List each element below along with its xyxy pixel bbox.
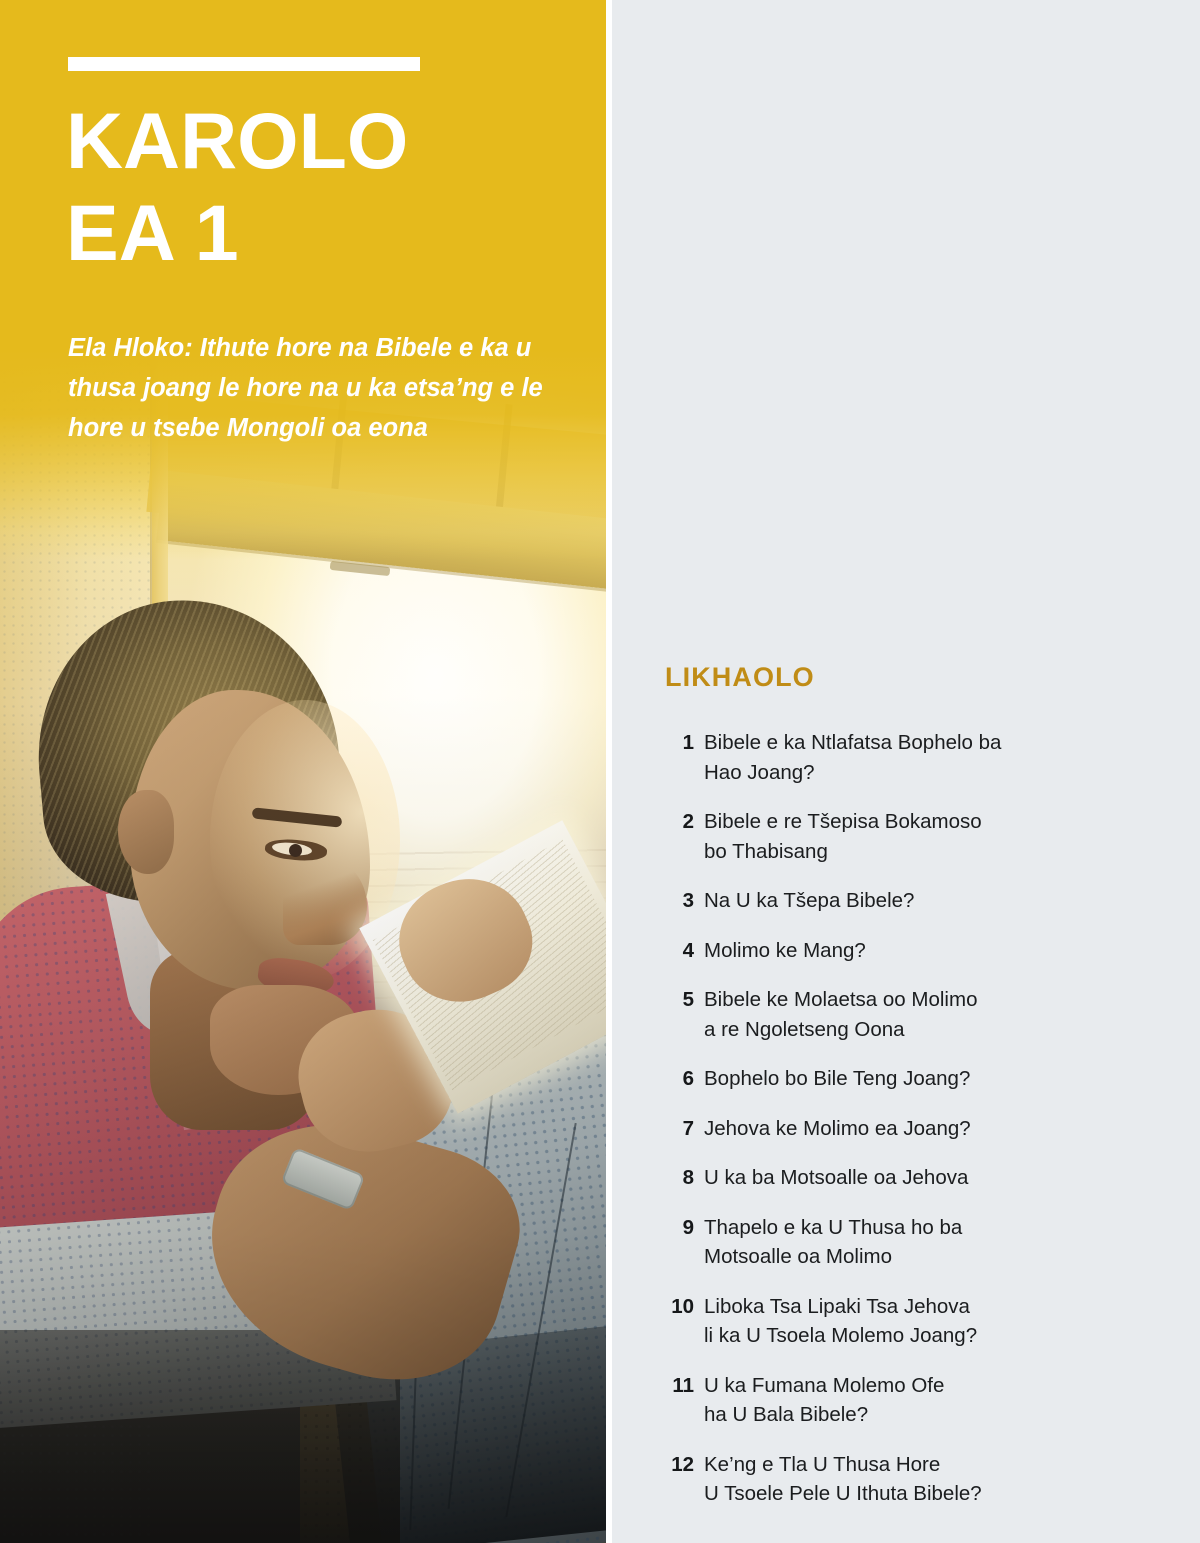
toc-chapter-number: 1: [612, 728, 704, 758]
toc-chapter-number: 10: [612, 1292, 704, 1322]
toc-row[interactable]: 10Liboka Tsa Lipaki Tsa Jehova li ka U T…: [612, 1292, 1200, 1351]
toc-chapter-number: 4: [612, 936, 704, 966]
table-of-contents: 1Bibele e ka Ntlafatsa Bophelo ba Hao Jo…: [612, 728, 1200, 1529]
toc-chapter-number: 7: [612, 1114, 704, 1144]
page-title: KAROLO EA 1: [66, 95, 546, 280]
toc-chapter-title[interactable]: Ke’ng e Tla U Thusa Hore U Tsoele Pele U…: [704, 1450, 1200, 1509]
title-rule: [68, 57, 420, 71]
toc-chapter-number: 6: [612, 1064, 704, 1094]
toc-chapter-title[interactable]: U ka ba Motsoalle oa Jehova: [704, 1163, 1200, 1193]
chapter-cover-panel: KAROLO EA 1 Ela Hloko: Ithute hore na Bi…: [0, 0, 606, 1543]
toc-chapter-title[interactable]: Jehova ke Molimo ea Joang?: [704, 1114, 1200, 1144]
toc-chapter-number: 12: [612, 1450, 704, 1480]
toc-chapter-number: 2: [612, 807, 704, 837]
toc-row[interactable]: 3Na U ka Tšepa Bibele?: [612, 886, 1200, 916]
toc-chapter-title[interactable]: Molimo ke Mang?: [704, 936, 1200, 966]
toc-row[interactable]: 7Jehova ke Molimo ea Joang?: [612, 1114, 1200, 1144]
toc-chapter-number: 8: [612, 1163, 704, 1193]
ear: [118, 790, 174, 874]
toc-chapter-number: 3: [612, 886, 704, 916]
toc-chapter-number: 9: [612, 1213, 704, 1243]
toc-row[interactable]: 5Bibele ke Molaetsa oo Molimo a re Ngole…: [612, 985, 1200, 1044]
toc-chapter-title[interactable]: Na U ka Tšepa Bibele?: [704, 886, 1200, 916]
toc-chapter-title[interactable]: Liboka Tsa Lipaki Tsa Jehova li ka U Tso…: [704, 1292, 1200, 1351]
contents-heading: LIKHAOLO: [665, 662, 815, 693]
toc-chapter-number: 11: [612, 1371, 704, 1401]
contents-panel: LIKHAOLO 1Bibele e ka Ntlafatsa Bophelo …: [612, 0, 1200, 1543]
toc-chapter-title[interactable]: Bibele ke Molaetsa oo Molimo a re Ngolet…: [704, 985, 1200, 1044]
toc-chapter-title[interactable]: Bibele e ka Ntlafatsa Bophelo ba Hao Joa…: [704, 728, 1200, 787]
toc-chapter-title[interactable]: Bibele e re Tšepisa Bokamoso bo Thabisan…: [704, 807, 1200, 866]
book-page: KAROLO EA 1 Ela Hloko: Ithute hore na Bi…: [0, 0, 1200, 1543]
toc-row[interactable]: 11U ka Fumana Molemo Ofe ha U Bala Bibel…: [612, 1371, 1200, 1430]
toc-row[interactable]: 4Molimo ke Mang?: [612, 936, 1200, 966]
toc-chapter-title[interactable]: U ka Fumana Molemo Ofe ha U Bala Bibele?: [704, 1371, 1200, 1430]
toc-row[interactable]: 2Bibele e re Tšepisa Bokamoso bo Thabisa…: [612, 807, 1200, 866]
toc-row[interactable]: 8U ka ba Motsoalle oa Jehova: [612, 1163, 1200, 1193]
toc-chapter-title[interactable]: Bophelo bo Bile Teng Joang?: [704, 1064, 1200, 1094]
toc-chapter-title[interactable]: Thapelo e ka U Thusa ho ba Motsoalle oa …: [704, 1213, 1200, 1272]
chapter-subtitle: Ela Hloko: Ithute hore na Bibele e ka u …: [68, 328, 578, 448]
toc-chapter-number: 5: [612, 985, 704, 1015]
toc-row[interactable]: 1Bibele e ka Ntlafatsa Bophelo ba Hao Jo…: [612, 728, 1200, 787]
toc-row[interactable]: 9Thapelo e ka U Thusa ho ba Motsoalle oa…: [612, 1213, 1200, 1272]
toc-row[interactable]: 12Ke’ng e Tla U Thusa Hore U Tsoele Pele…: [612, 1450, 1200, 1509]
toc-row[interactable]: 6Bophelo bo Bile Teng Joang?: [612, 1064, 1200, 1094]
